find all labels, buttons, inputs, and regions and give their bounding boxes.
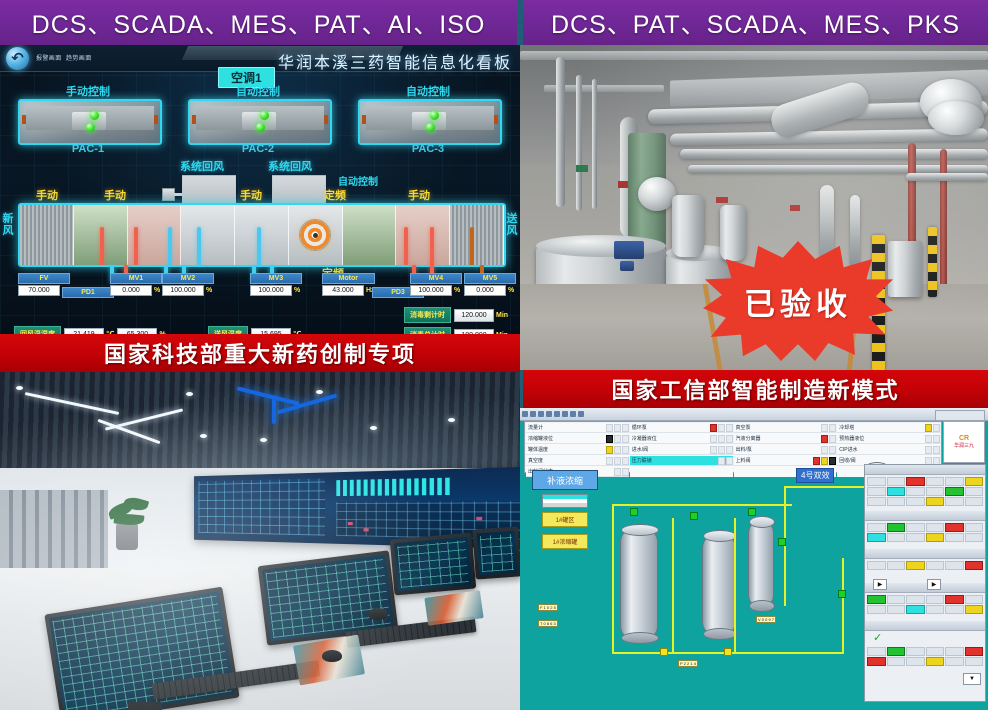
panel-cell[interactable] (887, 523, 906, 532)
ahu-mode-4: 定频 (324, 187, 346, 203)
transfer-line-2 (734, 518, 736, 652)
panel-cell[interactable] (867, 561, 886, 570)
alarm-row[interactable]: 浓缩罐液位 (526, 434, 629, 444)
scada-title: 华润本溪三药智能信息化看板 (278, 49, 512, 73)
ahu-section-prefilter (20, 205, 74, 265)
control-room-photo (0, 372, 520, 710)
ceiling-spot-4 (200, 434, 207, 438)
ceiling-spot-5 (260, 438, 267, 442)
alarm-label: 真空度 (528, 457, 606, 464)
toolbar-icon-2[interactable] (530, 411, 536, 417)
ahu-mode-5: 手动 (408, 187, 430, 203)
tag-mv3[interactable]: MV3 100.000% (250, 273, 302, 296)
alarm-row[interactable]: 冷凝器液位 (630, 434, 733, 444)
tag-motor-value: 43.000 (322, 285, 364, 296)
panel-cell[interactable] (867, 533, 886, 542)
alarm-row[interactable]: 循环泵 (630, 423, 733, 433)
panel-cell[interactable] (926, 533, 945, 542)
heating-pipe-1 (100, 227, 104, 267)
return-air-label-2: 系统回风 (268, 158, 312, 174)
video-wall-alarm-dot-2 (364, 528, 369, 531)
alarm-row-selected[interactable]: 压力联锁 (630, 456, 733, 466)
side-panel-cell-grid-1 (867, 477, 983, 506)
alarm-cell (622, 424, 629, 432)
alarm-cell (933, 424, 940, 432)
operator-monitor-4-screen (477, 531, 518, 576)
panel-cell[interactable] (887, 561, 906, 570)
alarm-cell (718, 435, 725, 443)
alarm-cell (821, 457, 828, 465)
status-sterilize-remaining-unit: Min (496, 312, 508, 319)
status-supply-air-label: 送风温度 (208, 326, 248, 334)
status-sterilize-total[interactable]: 消毒总计时 180.000 Min (404, 327, 508, 334)
plant-photo: 已验收 (520, 45, 988, 370)
toolbar-icon-1[interactable] (522, 411, 528, 417)
panel-cell[interactable] (906, 533, 925, 542)
pac-1-status-led-b (86, 123, 95, 132)
alarm-label: 出料/泵 (736, 446, 822, 453)
panel-cell[interactable] (887, 605, 906, 614)
alarm-column-1: 流量计 浓缩罐液位 罐体温度 真空度 出料阀状态 (526, 423, 629, 477)
tag-mv2-label: MV2 (162, 273, 214, 284)
button-tank-area[interactable]: 1#罐区 (542, 512, 588, 527)
alarm-row[interactable]: 真空度 (526, 456, 629, 466)
ceiling-spot-7 (448, 418, 455, 422)
side-panel-cell-grid-5 (867, 647, 983, 666)
separator-top-cap (749, 516, 775, 528)
alarm-label: 流量计 (528, 424, 606, 431)
pac-2-label: PAC-2 (188, 143, 328, 155)
tag-mv4-unit: % (454, 287, 460, 294)
ceiling-spot-6 (370, 426, 377, 430)
pac-1-outlet-nozzle (154, 115, 158, 124)
separator-bottom-cap (749, 600, 775, 612)
transfer-line-3 (784, 486, 786, 606)
panel-cell[interactable] (906, 647, 925, 656)
status-supply-air[interactable]: 送风温度 15.695 ℃ (208, 326, 301, 334)
alarm-cell (718, 457, 725, 465)
header-right: DCS、PAT、SCADA、MES、PKS (520, 0, 988, 45)
operator-monitor-3[interactable] (390, 533, 477, 596)
valve-throttle-indicator-1[interactable] (660, 648, 668, 656)
tag-mv4-label: MV4 (410, 273, 462, 284)
alarm-cell (726, 424, 733, 432)
mouse-1[interactable] (322, 650, 342, 662)
panel-cell[interactable] (906, 595, 925, 604)
evaporator-2-top-cap (703, 530, 737, 542)
tag-fv-value: 70.000 (18, 285, 60, 296)
supply-fan-icon (299, 219, 331, 251)
alarm-cell (622, 446, 629, 454)
tag-mv5[interactable]: MV5 0.000% (464, 273, 516, 296)
panel-cell[interactable] (926, 487, 945, 496)
alarm-row[interactable]: 流量计 (526, 423, 629, 433)
status-sterilize-remaining-label: 消毒剩计时 (404, 307, 451, 323)
tag-readout-feed-flow: F 1 0 2 5 (538, 604, 558, 611)
panel-cell[interactable] (945, 561, 964, 570)
video-wall-alarm-dot-1 (348, 522, 353, 525)
alarm-cell (925, 424, 932, 432)
monitor-1-stand (128, 702, 162, 710)
status-sterilize-remaining-value: 120.000 (454, 309, 494, 322)
tag-readout-product: P 2 2 1 4 (678, 660, 698, 667)
alarm-label: 真空泵 (736, 424, 822, 431)
valve-open-indicator-4[interactable] (778, 538, 786, 546)
alarm-cell (622, 457, 629, 465)
pac-3-outlet-nozzle (494, 115, 498, 124)
tag-mv5-unit: % (508, 287, 514, 294)
ahu-section-hepa (450, 205, 504, 265)
vapor-line-to-condenser (784, 486, 876, 488)
panel-cell[interactable] (945, 595, 964, 604)
condensate-return-line (842, 558, 844, 654)
button-concentrator[interactable]: 1#浓缩罐 (542, 534, 588, 549)
panel-cell[interactable] (926, 657, 945, 666)
panel-cell[interactable] (906, 561, 925, 570)
tag-readout-vacuum: V 0 0 9 7 (756, 616, 776, 623)
separator-vessel[interactable] (748, 520, 774, 608)
ceiling-spot-3 (316, 390, 323, 394)
panel-cell[interactable] (965, 657, 984, 666)
vapor-line-top (612, 504, 792, 506)
panel-cell[interactable] (926, 497, 945, 506)
panel-cell[interactable] (887, 657, 906, 666)
panel-cell[interactable] (906, 657, 925, 666)
panel-cell[interactable] (906, 523, 925, 532)
alarm-row[interactable]: 汽液分离器 (734, 434, 837, 444)
tag-mv1-unit: % (154, 287, 160, 294)
alarm-cell (933, 446, 940, 454)
tag-mv1-value: 0.000 (110, 285, 152, 296)
status-sterilize-total-label: 消毒总计时 (404, 327, 451, 334)
panel-cell[interactable] (906, 487, 925, 496)
panel-cell[interactable] (867, 523, 886, 532)
panel-cell[interactable] (965, 595, 984, 604)
heating-pipe-4 (430, 227, 434, 267)
pac-1-label: PAC-1 (18, 143, 158, 155)
alarm-label: 浓缩罐液位 (528, 435, 606, 442)
alarm-row[interactable]: 出料/泵 (734, 445, 837, 455)
dcs-toolbar[interactable] (520, 408, 988, 421)
alarm-column-2: 循环泵 冷凝器液位 进水/阀 压力联锁 (630, 423, 733, 477)
tag-fv-label: FV (18, 273, 70, 284)
panel-cell[interactable] (965, 533, 984, 542)
pac-unit-2[interactable] (188, 99, 332, 145)
alarm-row[interactable]: 罐体温度 (526, 445, 629, 455)
step-forward-button-1[interactable]: ▶ (873, 579, 887, 590)
alarm-cell (710, 424, 717, 432)
alarm-row[interactable]: 预热器液位 (837, 434, 940, 444)
panel-cell[interactable] (926, 647, 945, 656)
alarm-cell (606, 435, 613, 443)
panel-cell[interactable] (887, 477, 906, 486)
alarm-cell (614, 457, 621, 465)
tag-mv2-value: 100.000 (162, 285, 204, 296)
panel-cell[interactable] (867, 605, 886, 614)
ahu-section-medium-filter (74, 205, 128, 265)
panel-cell[interactable] (945, 477, 964, 486)
side-panel-titlebar-1 (865, 465, 985, 475)
ahu-section-heating-coil (128, 205, 182, 265)
evaporator-1[interactable] (620, 528, 658, 640)
auto-control-label: 自动控制 (338, 173, 378, 188)
panel-cell[interactable] (867, 595, 886, 604)
ahu-section-reheat (343, 205, 397, 265)
panel-cell[interactable] (887, 497, 906, 506)
panel-cell[interactable] (945, 647, 964, 656)
panel-cell[interactable] (906, 477, 925, 486)
operator-monitor-4[interactable] (472, 526, 520, 579)
step-forward-button-2[interactable]: ▶ (927, 579, 941, 590)
panel-cell[interactable] (945, 533, 964, 542)
valve-throttle-indicator-2[interactable] (724, 648, 732, 656)
toolbar-icon-6[interactable] (562, 411, 568, 417)
alarm-cell (614, 468, 621, 476)
side-panel-cell-grid-2 (867, 523, 983, 542)
pac-unit-3[interactable] (358, 99, 502, 145)
toolbar-icon-8[interactable] (578, 411, 584, 417)
alarm-cell (622, 468, 629, 476)
evaporator-2[interactable] (702, 534, 736, 636)
air-handling-unit[interactable] (18, 203, 506, 267)
wall-louver-panel (0, 490, 108, 570)
valve-open-indicator-1[interactable] (630, 508, 638, 516)
alarm-cell (829, 457, 836, 465)
status-badge-accepted-label: 已验收 (744, 279, 852, 324)
alarm-cell (726, 457, 733, 465)
tag-mv1[interactable]: MV1 0.000% (110, 273, 162, 296)
menu-item-alarm[interactable]: 报警画面 (36, 53, 62, 62)
alarm-label: 冷却塔 (839, 424, 925, 431)
panel-cell[interactable] (965, 523, 984, 532)
brand-name: 华润三九 (954, 443, 974, 450)
tag-mv4-value: 100.000 (410, 285, 452, 296)
return-air-label-1: 系统回风 (180, 158, 224, 174)
side-panel-cell-grid-4 (867, 595, 983, 614)
side-panel-titlebar-2 (865, 511, 985, 521)
panel-dcs-screen: 流量计 浓缩罐液位 罐体温度 真空度 出料阀状态 循环泵 冷凝器液位 进水/阀 … (520, 408, 988, 710)
alarm-cell (821, 435, 828, 443)
ahu-section-cooling-coil (181, 205, 235, 265)
tag-mv3-value: 100.000 (250, 285, 292, 296)
alarm-cell (925, 446, 932, 454)
brand-logo: CR 华润三九 (943, 421, 985, 463)
caption-left: 国家科技部重大新药创制专项 (0, 334, 520, 372)
panel-cell[interactable] (867, 647, 886, 656)
pac-3-inlet-nozzle (362, 115, 366, 124)
operator-monitor-3-screen (394, 537, 472, 591)
panel-cell[interactable] (867, 487, 886, 496)
alarm-label: 进水/阀 (632, 446, 710, 453)
ahu-mode-2: 手动 (104, 187, 126, 203)
ceiling-spot-2 (186, 392, 193, 396)
alarm-cell (726, 446, 733, 454)
alarm-cell (614, 435, 621, 443)
ahu-mode-3: 手动 (240, 187, 262, 203)
dcs-operator-screen: 流量计 浓缩罐液位 罐体温度 真空度 出料阀状态 循环泵 冷凝器液位 进水/阀 … (520, 408, 988, 710)
tag-mv5-label: MV5 (464, 273, 516, 284)
alarm-cell (813, 457, 820, 465)
alarm-label: 上料阀 (736, 457, 814, 464)
alarm-cell (710, 435, 717, 443)
panel-cell[interactable] (867, 657, 886, 666)
alarm-cell (829, 424, 836, 432)
tag-mv2[interactable]: MV2 100.000% (162, 273, 214, 296)
tag-readout-feed-temp: T 0 8 6 3 (538, 620, 558, 627)
evaporator-1-bottom-cap (621, 632, 659, 644)
panel-control-room (0, 372, 520, 710)
alarm-cell (606, 446, 613, 454)
return-air-damper-icon[interactable] (162, 188, 175, 201)
pac-2-status-led-b (256, 123, 265, 132)
operator-monitor-1-screen (49, 591, 235, 710)
label-4th-effect: 4号双效 (796, 468, 834, 483)
valve-open-indicator-5[interactable] (838, 590, 846, 598)
alarm-cell (925, 435, 932, 443)
panel-cell[interactable] (945, 657, 964, 666)
panel-cell[interactable] (945, 605, 964, 614)
confirm-check-icon[interactable]: ✓ (873, 631, 882, 644)
alarm-cell (821, 446, 828, 454)
panel-cell[interactable] (965, 647, 984, 656)
fresh-air-label: 新风 (2, 213, 14, 237)
tag-motor-label: Motor (322, 273, 375, 284)
alarm-label: 罐体温度 (528, 446, 606, 453)
alarm-cell (710, 446, 717, 454)
showcase-collage: DCS、SCADA、MES、PAT、AI、ISO ↶ 报警画面 趋势画面 华润本… (0, 0, 988, 710)
valve-open-indicator-2[interactable] (690, 512, 698, 520)
pac-2-inlet-nozzle (192, 115, 196, 124)
alarm-cell (821, 424, 828, 432)
panel-cell[interactable] (926, 605, 945, 614)
alarm-label: 压力联锁 (632, 457, 718, 464)
scroll-down-button[interactable]: ▼ (963, 673, 981, 685)
header-left: DCS、SCADA、MES、PAT、AI、ISO (0, 0, 520, 45)
panel-cell[interactable] (867, 477, 886, 486)
panel-cell[interactable] (965, 497, 984, 506)
alarm-row[interactable]: 冷却塔 (837, 423, 940, 433)
tag-mv2-unit: % (206, 287, 212, 294)
pac-1-status-led-a (90, 111, 99, 120)
ceiling-spot-1 (16, 386, 23, 390)
ceiling-light-blue-3 (272, 398, 276, 424)
panel-cell[interactable] (945, 487, 964, 496)
side-panel-titlebar-5 (865, 621, 985, 631)
tag-motor[interactable]: Motor 43.000Hz (322, 273, 375, 296)
pac-2-outlet-nozzle (324, 115, 328, 124)
mouse-2[interactable] (368, 608, 388, 620)
pac-3-status-led-a (430, 111, 439, 120)
cooling-pipe-3 (257, 227, 261, 267)
menu-item-trend[interactable]: 趋势画面 (66, 53, 92, 62)
tag-pd1-label: PD1 (62, 287, 114, 298)
panel-cell[interactable] (906, 497, 925, 506)
caption-right: 国家工信部智能制造新模式 (520, 370, 988, 408)
cooling-pipe-1 (168, 227, 172, 267)
panel-cell[interactable] (965, 477, 984, 486)
tag-mv4[interactable]: MV4 100.000% (410, 273, 462, 296)
scada-canvas: ↶ 报警画面 趋势画面 华润本溪三药智能信息化看板 空调1 手动控制 PAC-1… (0, 45, 520, 334)
tag-pd1[interactable]: PD1 (62, 287, 114, 298)
panel-cell[interactable] (906, 605, 925, 614)
panel-cell[interactable] (887, 533, 906, 542)
valve-open-indicator-3[interactable] (748, 508, 756, 516)
feed-line-left (612, 504, 614, 654)
supply-air-label: 送风 (506, 213, 518, 237)
alarm-cell (614, 446, 621, 454)
back-arrow-icon[interactable]: ↶ (6, 47, 29, 70)
transfer-line-1 (672, 518, 674, 652)
ahu-section-mixing-box (235, 205, 289, 265)
brand-mark: CR (959, 434, 969, 443)
ahu-section-fan (289, 205, 343, 265)
alarm-label: 冷凝器液位 (632, 435, 710, 442)
ahu-mode-1: 手动 (36, 187, 58, 203)
panel-cell[interactable] (926, 523, 945, 532)
alarm-cell (622, 435, 629, 443)
panel-cell[interactable] (965, 605, 984, 614)
alarm-cell (829, 446, 836, 454)
panel-cell[interactable] (926, 595, 945, 604)
heating-pipe-3 (404, 227, 408, 267)
level-gauge-indicator (542, 494, 588, 508)
alarm-cell (726, 435, 733, 443)
alarm-row[interactable]: 上料阀 (734, 456, 837, 466)
alarm-row[interactable]: CIP进水 (837, 445, 940, 455)
panel-cell[interactable] (965, 561, 984, 570)
panel-cell[interactable] (887, 487, 906, 496)
panel-cell[interactable] (945, 523, 964, 532)
panel-cell[interactable] (945, 497, 964, 506)
heating-pipe-2 (134, 227, 138, 267)
panel-cell[interactable] (887, 595, 906, 604)
toolbar-icon-3[interactable] (538, 411, 544, 417)
evaporator-1-top-cap (621, 524, 659, 536)
pac-unit-1[interactable] (18, 99, 162, 145)
panel-cell[interactable] (926, 477, 945, 486)
tag-readout-row: FV 70.000% PD1 MV1 0.000% MV2 100.000% M… (0, 273, 520, 307)
alarm-label: 汽液分离器 (736, 435, 822, 442)
alarm-row[interactable]: 真空泵 (734, 423, 837, 433)
alarm-row[interactable]: 进水/阀 (630, 445, 733, 455)
status-return-air[interactable]: 回风温湿度 21.419 ℃ 65.300 % (14, 326, 166, 334)
panel-cell[interactable] (887, 647, 906, 656)
drain-pipe (470, 227, 474, 267)
panel-cell[interactable] (867, 497, 886, 506)
video-wall-alarm-dot-3 (476, 517, 482, 520)
panel-cell[interactable] (926, 561, 945, 570)
alarm-cell (606, 424, 613, 432)
panel-cell[interactable] (965, 487, 984, 496)
alarm-cell (829, 435, 836, 443)
pac-3-mode: 自动控制 (358, 83, 498, 99)
toolbar-icon-5[interactable] (554, 411, 560, 417)
pac-3-status-led-b (426, 123, 435, 132)
status-sterilize-remaining[interactable]: 消毒剩计时 120.000 Min (404, 307, 508, 323)
pac-2-mode: 自动控制 (188, 83, 328, 99)
tag-mv1-label: MV1 (110, 273, 162, 284)
video-wall-bar-chart (336, 478, 450, 496)
pac-1-inlet-nozzle (22, 115, 26, 124)
cooling-pipe-2 (197, 227, 201, 267)
pac-1-mode: 手动控制 (18, 83, 158, 99)
side-panel-cell-grid-3 (867, 561, 983, 570)
pac-2-status-led-a (260, 111, 269, 120)
potted-plant-pot (116, 524, 138, 550)
toolbar-icon-4[interactable] (546, 411, 552, 417)
toolbar-icon-7[interactable] (570, 411, 576, 417)
panel-plant-photo: DCS、PAT、SCADA、MES、PKS (520, 0, 988, 408)
